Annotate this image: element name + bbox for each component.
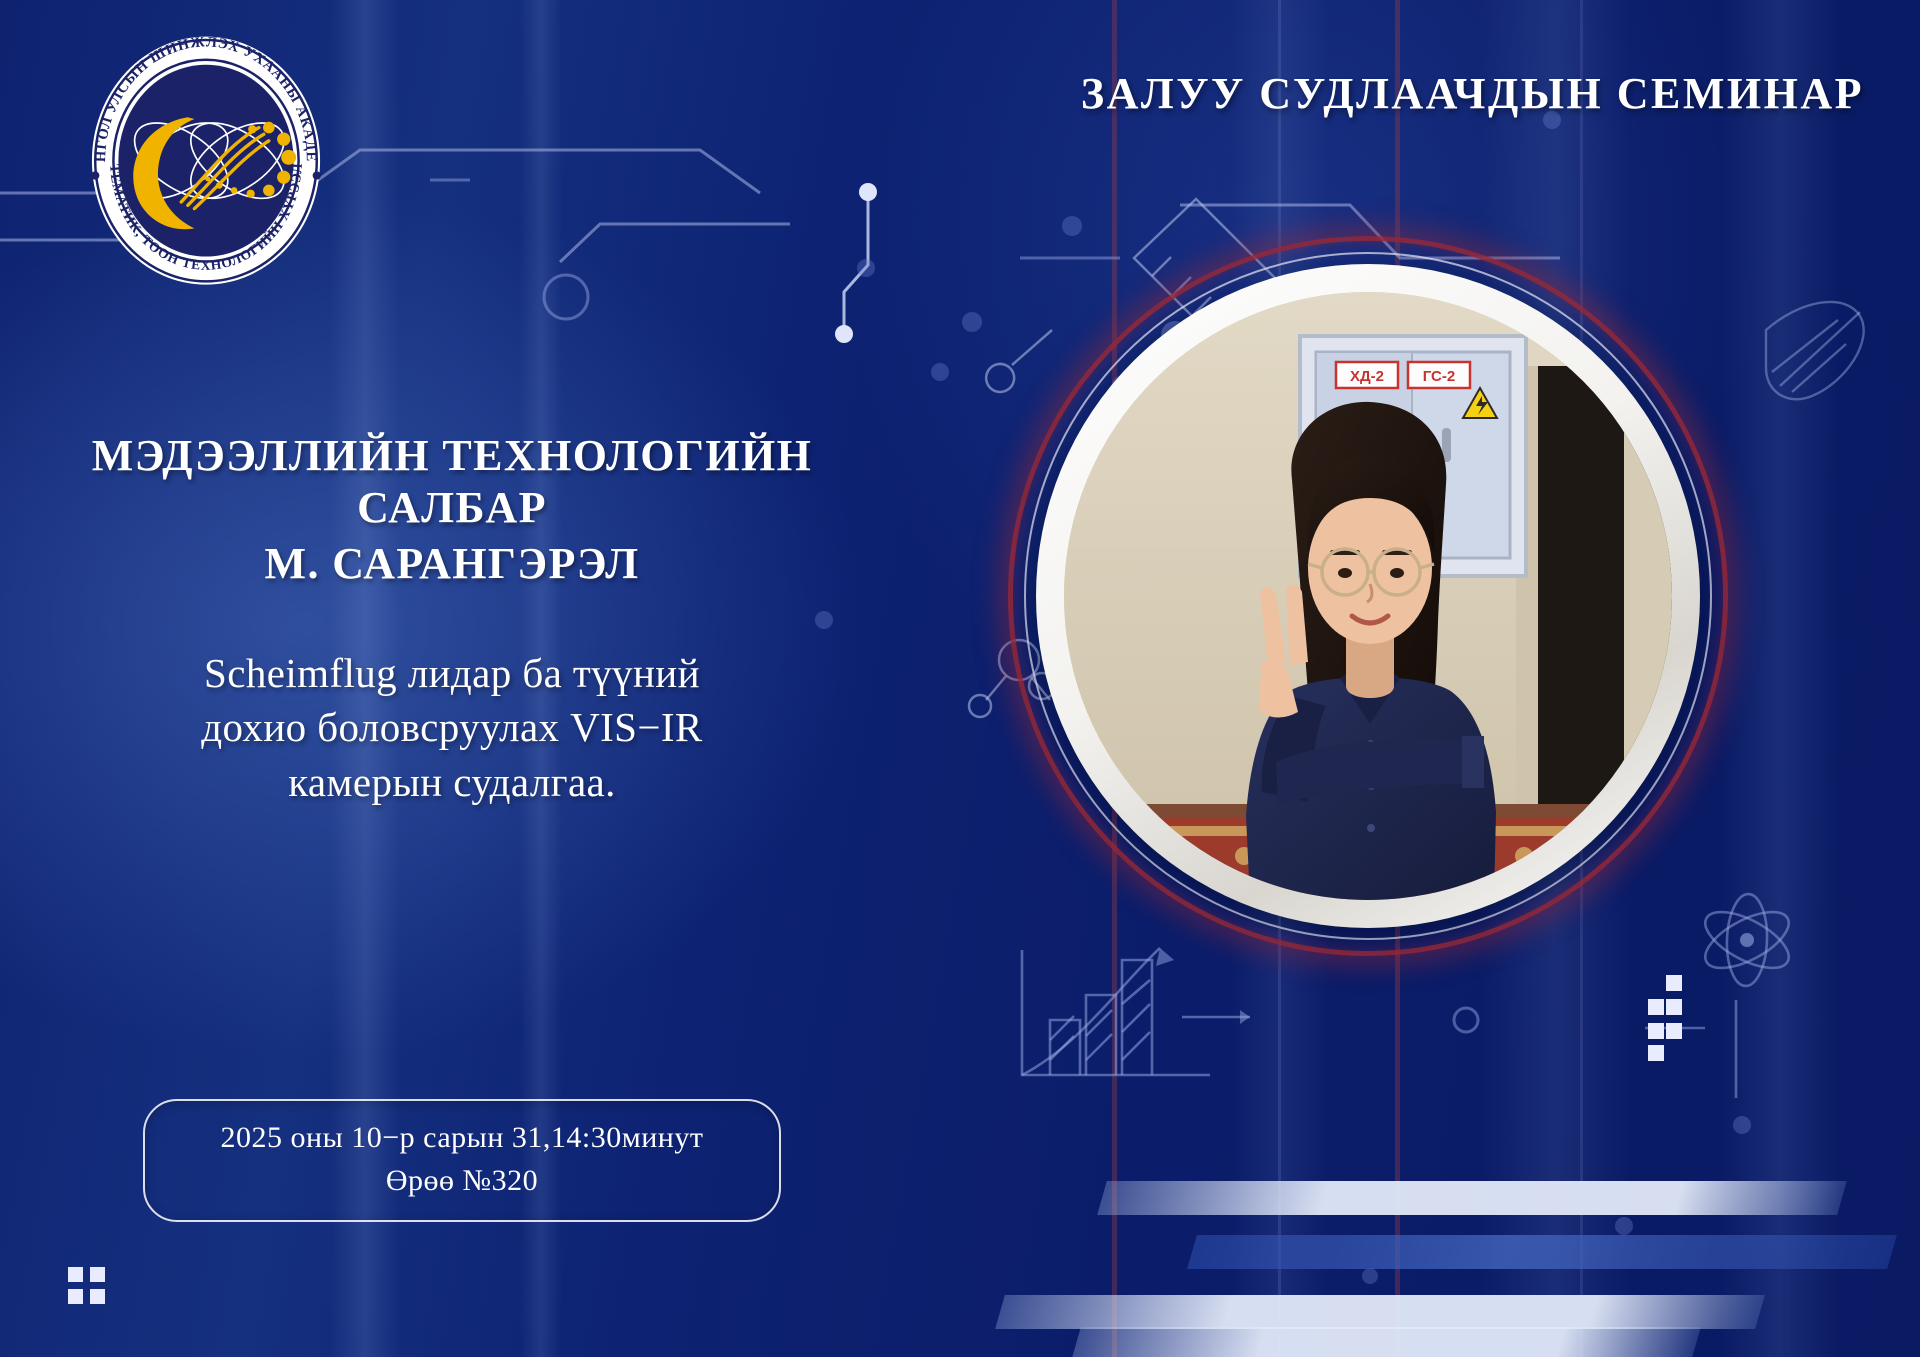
- topic-line-1: Scheimflug лидар ба түүний: [52, 646, 852, 701]
- department-line-2: САЛБАР: [52, 482, 852, 534]
- pixel-squares-middle-right: [1648, 975, 1688, 1061]
- department-line-1: МЭДЭЭЛЛИЙН ТЕХНОЛОГИЙН: [52, 430, 852, 482]
- decorative-bars: [1060, 1175, 1920, 1357]
- presenter-name: М. САРАНГЭРЭЛ: [52, 538, 852, 590]
- page-title: ЗАЛУУ СУДЛААЧДЫН СЕМИНАР: [0, 68, 1864, 119]
- cabinet-label-left: ХД-2: [1350, 368, 1384, 385]
- schedule-box: 2025 оны 10−р сарын 31,14:30минут Өрөө №…: [143, 1099, 781, 1222]
- presentation-info: МЭДЭЭЛЛИЙН ТЕХНОЛОГИЙН САЛБАР М. САРАНГЭ…: [52, 430, 852, 809]
- topic-line-3: камерын судалгаа.: [52, 755, 852, 810]
- cabinet-label-right: ГС-2: [1423, 368, 1455, 385]
- schedule-datetime: 2025 оны 10−р сарын 31,14:30минут: [165, 1117, 759, 1160]
- presenter-portrait: ХД-2 ГС-2: [1064, 292, 1672, 900]
- schedule-room: Өрөө №320: [165, 1160, 759, 1203]
- presenter-photo-frame: ХД-2 ГС-2: [1008, 236, 1728, 956]
- topic-block: Scheimflug лидар ба түүний дохио боловср…: [52, 646, 852, 810]
- pixel-squares-bottom-left: [68, 1267, 108, 1307]
- topic-line-2: дохио боловсруулах VIS−IR: [52, 700, 852, 755]
- seminar-poster: МОНГОЛ УЛСЫН ШИНЖЛЭХ УХААНЫ АКАДЕМИ МАТЕ…: [0, 0, 1920, 1357]
- background-band: [1720, 0, 1840, 1357]
